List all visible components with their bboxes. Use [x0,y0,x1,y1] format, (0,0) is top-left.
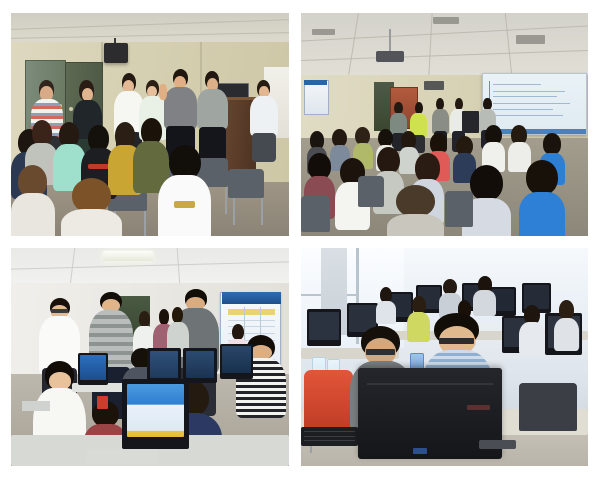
chair [358,176,384,207]
photo-bottom-left[interactable] [11,248,289,466]
glasses-icon [366,349,395,354]
chair [228,169,264,198]
monitor [220,344,253,379]
photo-top-left[interactable] [11,13,289,236]
seated-person [482,125,505,170]
keyboard[interactable] [301,427,358,447]
photo-top-right[interactable] [301,13,588,236]
photo-bottom-right[interactable] [301,248,588,466]
seated-person [61,178,122,236]
wall-speaker [104,43,128,63]
standing-person [250,80,278,160]
lab-pair-scene [301,248,588,466]
seated-person [519,160,565,236]
monitor [147,348,180,383]
monitor [307,309,341,346]
lecture-hall-scene [301,13,588,236]
red-chair [304,370,353,431]
computer-lab-scene [11,248,289,466]
background-person [376,287,396,322]
notice-board-highlight [228,309,275,315]
seated-person [387,185,444,236]
chair [519,383,576,431]
laptop [462,111,479,133]
seated-person [158,145,211,236]
ceiling-vent [516,35,545,44]
mouse[interactable] [479,440,516,449]
background-person [473,276,496,313]
seated-person [11,165,55,236]
glasses-icon [51,309,68,312]
keyboard [86,449,158,464]
chair [445,191,474,227]
monitor [122,379,189,449]
photo-collage [0,0,600,480]
background-person [519,305,545,353]
background-person [554,300,580,348]
ceiling-light [103,251,153,261]
meeting-room-scene [11,13,289,236]
monitor [183,348,216,383]
cup [97,396,108,409]
poster-header [304,80,327,85]
chair [301,196,330,232]
notice-board-header [222,292,280,304]
monitor [78,353,109,386]
ceiling-vent [433,17,459,24]
ceiling-projector [376,51,405,62]
ceiling-vent [312,29,335,36]
keyboard [22,401,50,412]
wall-speaker [424,81,444,90]
projector-mount [389,29,391,51]
glasses-icon [439,338,473,344]
